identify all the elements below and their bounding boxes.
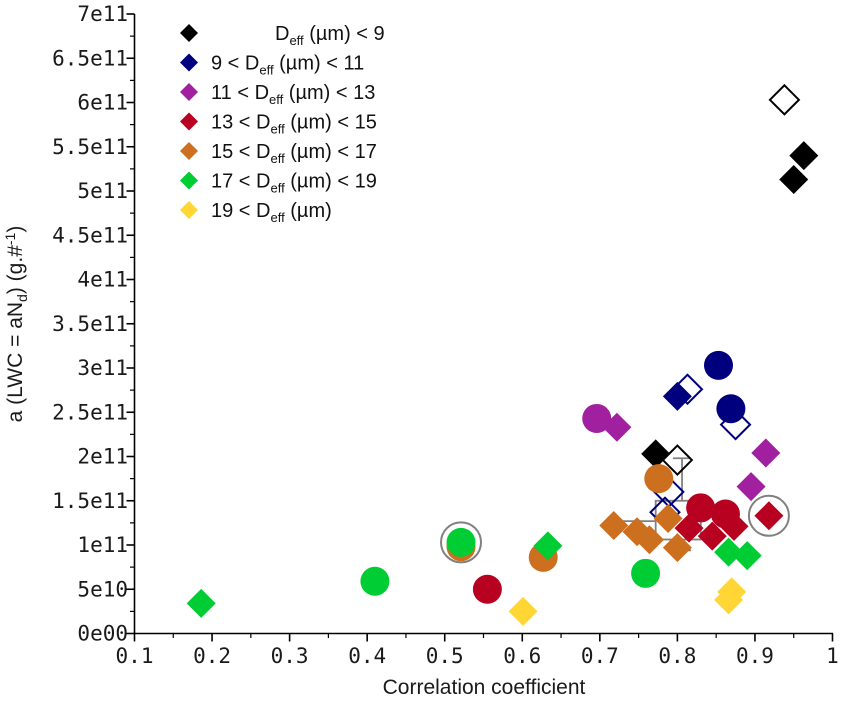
x-tick-label: 0.7 (581, 644, 619, 668)
y-tick-label: 5e10 (77, 577, 128, 601)
y-tick-label: 7e11 (77, 2, 128, 26)
x-tick-label: 0.9 (736, 644, 774, 668)
legend-label-2: 11 < Deff (µm) < 13 (211, 82, 375, 107)
marker-circle (644, 464, 673, 493)
scatter-plot-figure: 0e005e101e111.5e112e112.5e113e113.5e114e… (0, 0, 843, 707)
y-tick-label: 3.5e11 (52, 312, 128, 336)
x-tick-label: 0.5 (426, 644, 464, 668)
x-axis-title: Correlation coefficient (383, 676, 586, 699)
marker-circle (447, 528, 476, 557)
y-tick-label: 1e11 (77, 533, 128, 557)
legend-label-5: 17 < Deff (µm) < 19 (211, 171, 377, 196)
marker-circle (704, 351, 733, 380)
legend-label-3: 13 < Deff (µm) < 15 (211, 112, 377, 137)
y-title-mid: ) (g.# (4, 245, 27, 294)
y-tick-label: 0e00 (77, 622, 128, 646)
x-tick-label: 0.1 (116, 644, 154, 668)
chart-canvas: 0e005e101e111.5e112e112.5e113e113.5e114e… (0, 0, 843, 707)
y-tick-label: 5e11 (77, 179, 128, 203)
x-tick-label: 0.3 (271, 644, 309, 668)
y-title-post: ) (4, 226, 27, 233)
marker-circle (716, 394, 745, 423)
y-tick-label: 4e11 (77, 268, 128, 292)
marker-circle (473, 575, 502, 604)
y-tick-label: 4.5e11 (52, 223, 128, 247)
y-tick-label: 6.5e11 (52, 46, 128, 70)
y-title-pre: a (LWC = aN (4, 302, 27, 422)
y-tick-label: 6e11 (77, 91, 128, 115)
x-tick-label: 0.8 (658, 644, 696, 668)
x-tick-label: 0.4 (348, 644, 386, 668)
y-title-sup: -1 (2, 232, 18, 245)
x-tick-label: 0.2 (193, 644, 231, 668)
y-axis-title: a (LWC = aNd) (g.#-1) (2, 226, 30, 423)
legend-label-1: 9 < Deff (µm) < 11 (211, 53, 364, 78)
marker-circle (360, 567, 389, 596)
y-tick-label: 5.5e11 (52, 135, 128, 159)
y-tick-label: 3e11 (77, 356, 128, 380)
y-title-sub: d (14, 294, 30, 302)
marker-circle (631, 559, 660, 588)
y-tick-label: 2e11 (77, 445, 128, 469)
y-tick-label: 2.5e11 (52, 400, 128, 424)
y-tick-label: 1.5e11 (52, 489, 128, 513)
x-tick-label: 1 (826, 644, 839, 668)
legend-label-4: 15 < Deff (µm) < 17 (211, 141, 377, 166)
svg-text:a (LWC = aNd) (g.#-1): a (LWC = aNd) (g.#-1) (2, 226, 30, 423)
x-tick-label: 0.6 (503, 644, 541, 668)
